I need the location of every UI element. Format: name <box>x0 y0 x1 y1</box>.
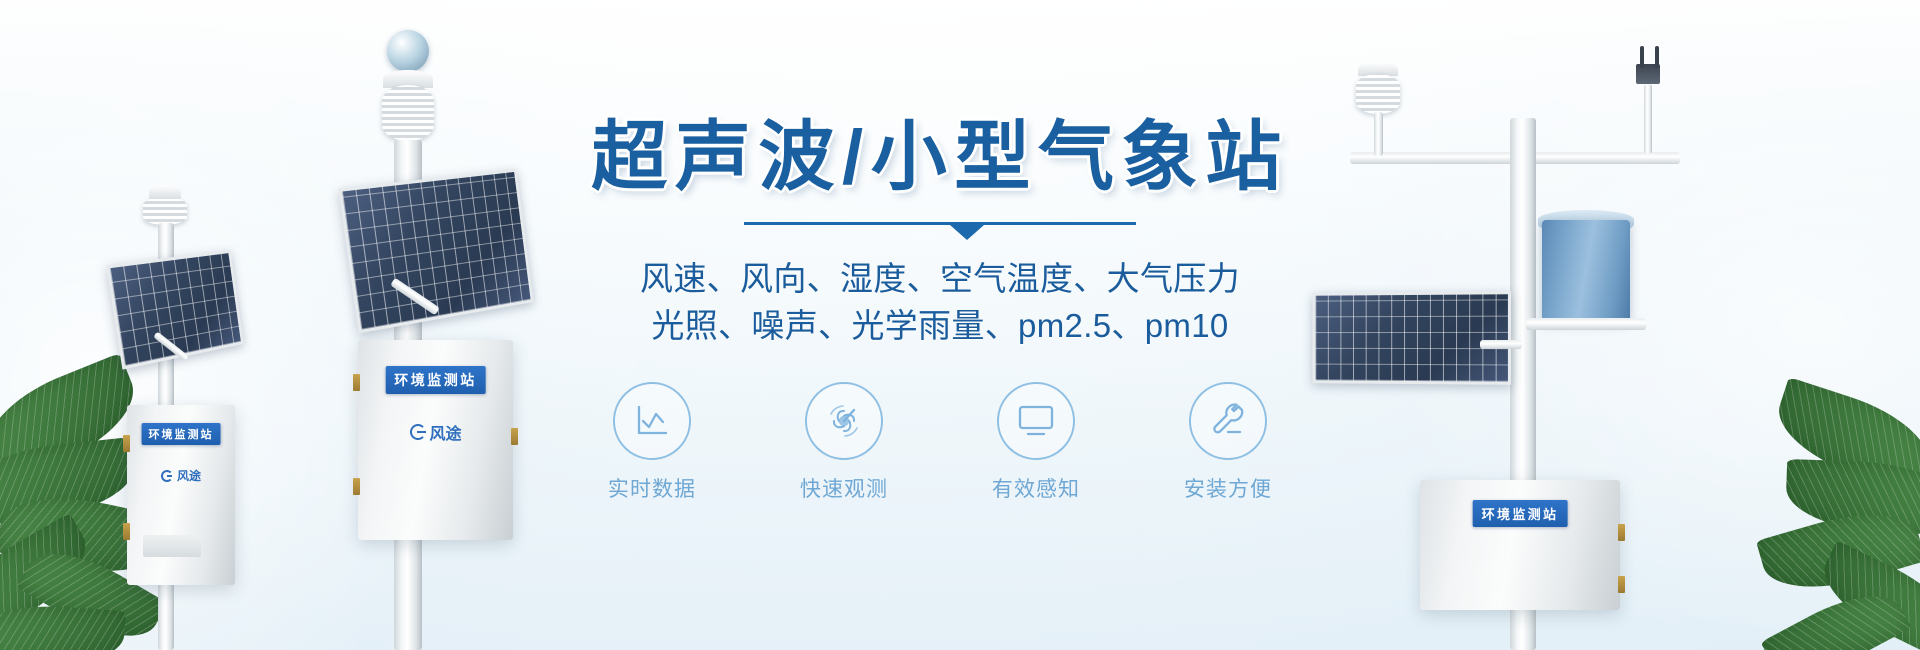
subtitle-line-2: 光照、噪声、光学雨量、pm2.5、pm10 <box>520 303 1360 350</box>
sky-dome-sensor <box>387 30 429 72</box>
monitor-screen-icon <box>1016 403 1056 439</box>
divider-line <box>744 222 1136 225</box>
ultrasonic-prong <box>1640 46 1644 68</box>
cabinet-label-badge: 环境监测站 <box>142 423 221 445</box>
ultrasonic-prong <box>1655 46 1659 68</box>
down-triangle-icon <box>950 225 984 240</box>
feature-label: 快速观测 <box>769 473 919 503</box>
panel-support-arm <box>1480 340 1522 349</box>
fengtu-logo-icon <box>161 470 173 482</box>
cabinet-hinge <box>353 374 360 391</box>
banner-title: 超声波/小型气象站 <box>520 120 1360 196</box>
radiation-shield-sensor <box>143 197 187 225</box>
cabinet-brand-text: 风途 <box>429 420 461 444</box>
cabinet-brand-text: 风途 <box>177 467 201 484</box>
wrench-icon <box>1208 401 1248 441</box>
feature-label: 有效感知 <box>961 473 1111 503</box>
weather-station-left: 环境监测站 风途 <box>105 175 335 650</box>
title-divider <box>744 222 1136 238</box>
line-chart-icon <box>632 401 672 441</box>
banner-content: 超声波/小型气象站 风速、风向、湿度、空气温度、大气压力 光照、噪声、光学雨量、… <box>520 120 1360 503</box>
sensor-platform <box>1526 318 1646 330</box>
radiation-shield-sensor <box>1356 74 1400 114</box>
feature-item-fast-observation[interactable]: 快速观测 <box>769 382 919 503</box>
equipment-cabinet: 环境监测站 风途 <box>358 340 513 540</box>
feature-icon-circle <box>997 382 1075 460</box>
weather-station-right: 环境监测站 <box>1310 40 1740 650</box>
feature-icon-circle <box>1189 382 1267 460</box>
cabinet-hinge <box>1618 524 1625 541</box>
feature-item-effective-sensing[interactable]: 有效感知 <box>961 382 1111 503</box>
cabinet-brand-logo: 风途 <box>161 467 201 484</box>
feature-icon-circle <box>613 382 691 460</box>
feature-icon-circle <box>805 382 883 460</box>
fengtu-logo-icon <box>409 424 425 440</box>
equipment-cabinet: 环境监测站 <box>1420 480 1620 610</box>
cabinet-label-badge: 环境监测站 <box>1473 500 1568 527</box>
equipment-cabinet: 环境监测站 风途 <box>127 405 235 585</box>
feature-list: 实时数据 <box>520 382 1360 503</box>
radiation-shield-cap <box>149 185 181 199</box>
cabinet-label-badge: 环境监测站 <box>385 366 486 394</box>
cabinet-hinge <box>511 428 518 445</box>
cabinet-vent <box>143 535 201 557</box>
feature-item-easy-installation[interactable]: 安装方便 <box>1153 382 1303 503</box>
subtitle-line-1: 风速、风向、湿度、空气温度、大气压力 <box>520 256 1360 303</box>
rain-gauge <box>1542 220 1630 322</box>
cabinet-hinge <box>1618 576 1625 593</box>
cabinet-brand-logo: 风途 <box>409 420 461 444</box>
radiation-shield-sensor <box>382 85 434 141</box>
feature-label: 实时数据 <box>577 473 727 503</box>
sensor-stem <box>1374 112 1383 156</box>
sensor-stem <box>1644 84 1652 154</box>
cabinet-hinge <box>123 435 130 452</box>
banner-subtitle: 风速、风向、湿度、空气温度、大气压力 光照、噪声、光学雨量、pm2.5、pm10 <box>520 256 1360 350</box>
cabinet-hinge <box>123 523 130 540</box>
cabinet-hinge <box>353 478 360 495</box>
feature-item-realtime-data[interactable]: 实时数据 <box>577 382 727 503</box>
feature-label: 安装方便 <box>1153 473 1303 503</box>
anemometer-radar-icon <box>823 400 865 442</box>
weather-station-banner: 环境监测站 风途 环境监测站 风途 <box>0 0 1920 650</box>
